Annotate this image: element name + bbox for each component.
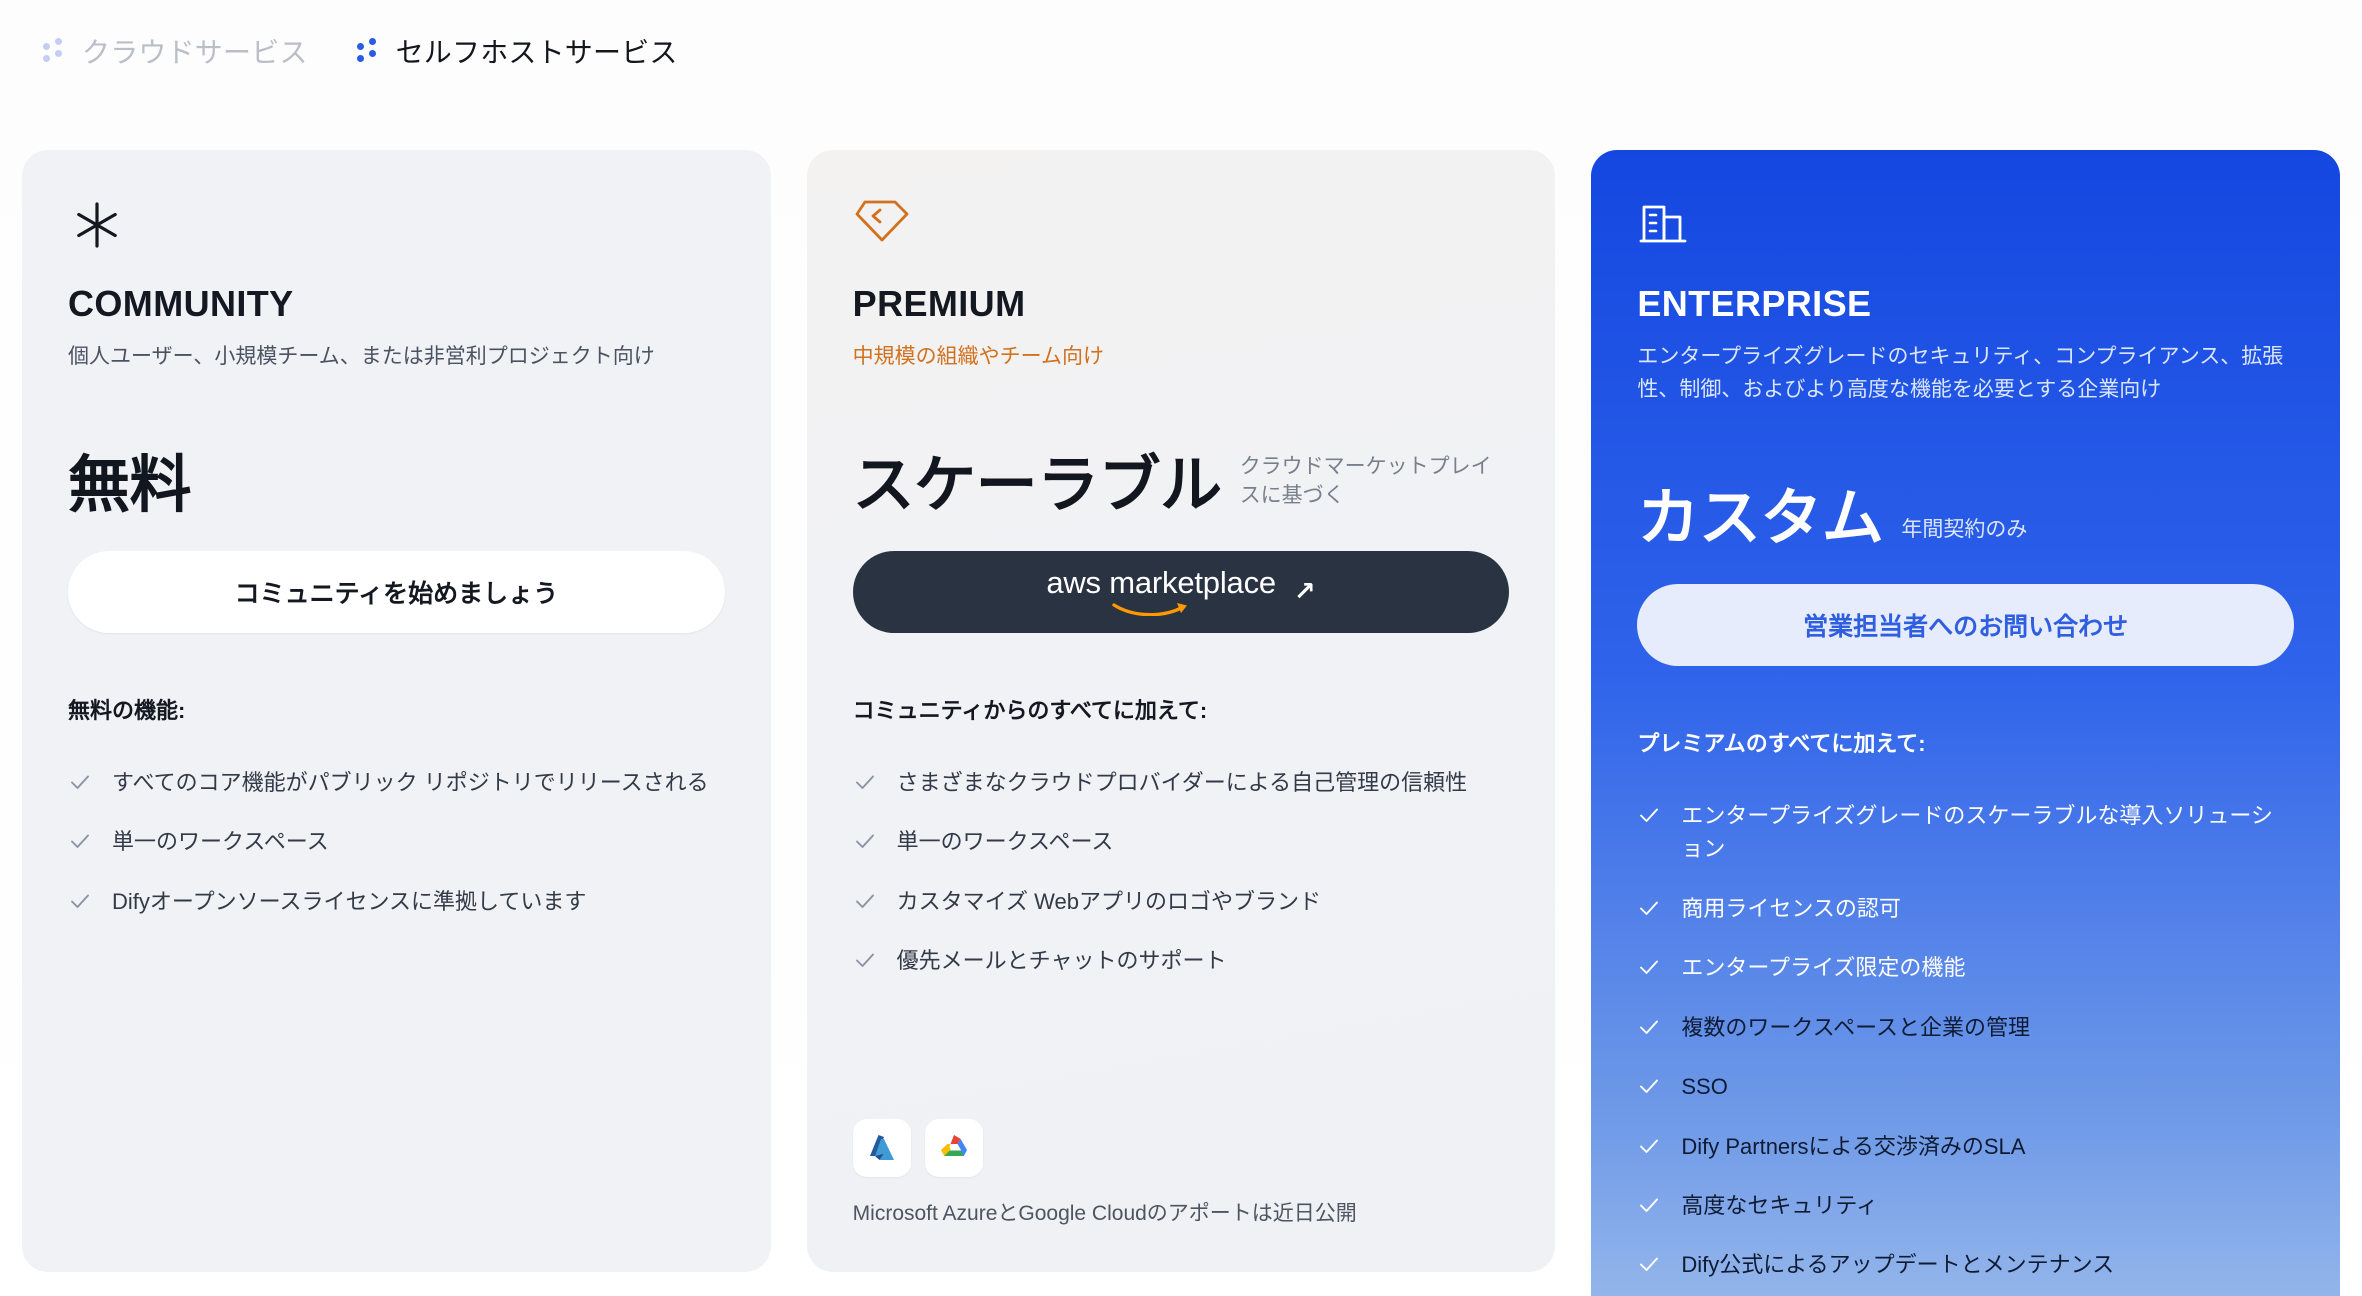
plan-description-premium: 中規模の組織やチーム向け [853, 340, 1510, 373]
price-row-premium: スケーラブル クラウドマーケットプレイスに基づく [853, 439, 1510, 517]
check-icon [1637, 896, 1661, 920]
plan-name-premium: PREMIUM [853, 284, 1510, 324]
community-cta-button[interactable]: コミュニティを始めましょう [68, 551, 725, 633]
feature-label: カスタマイズ Webアプリのロゴやブランド [897, 885, 1321, 918]
tab-self-host-service-label: セルフホストサービス [396, 31, 678, 71]
feature-list-community: すべてのコア機能がパブリック リポジトリでリリースされる 単一のワークスペース … [68, 753, 725, 931]
tab-cloud-service[interactable]: クラウドサービス [40, 27, 310, 75]
check-icon [1637, 803, 1661, 827]
check-icon [68, 889, 92, 913]
price-row-community: 無料 [68, 439, 725, 517]
plan-price-premium: スケーラブル [853, 455, 1222, 517]
feature-item: 単一のワークスペース [68, 812, 725, 871]
plan-name-community: COMMUNITY [68, 284, 725, 324]
feature-item: Dify公式によるアップデートとメンテナンス [1637, 1235, 2294, 1294]
feature-label: 商用ライセンスの認可 [1681, 892, 1901, 925]
feature-item: 商用ライセンスの認可 [1637, 879, 2294, 938]
features-title-enterprise: プレミアムのすべてに加えて: [1637, 726, 2294, 758]
aws-marketplace-label: aws marketplace [1046, 567, 1276, 598]
check-icon [853, 948, 877, 972]
feature-item: カスタマイズ Webアプリのロゴやブランド [853, 872, 1510, 931]
tab-cloud-service-label: クラウドサービス [82, 31, 308, 71]
dots-icon [42, 38, 68, 64]
asterisk-icon [68, 196, 725, 254]
contact-sales-button[interactable]: 営業担当者へのお問い合わせ [1637, 584, 2294, 666]
pricing-page: クラウドサービス セルフホストサービス COMMUNITY [0, 0, 2362, 1296]
feature-item: Dify Partnersによる交渉済みのSLA [1637, 1117, 2294, 1176]
feature-label: 単一のワークスペース [112, 825, 329, 858]
features-title-community: 無料の機能: [68, 693, 725, 725]
feature-label: エンタープライズグレードのスケーラブルな導入ソリューション [1681, 799, 2294, 866]
feature-list-enterprise: エンタープライズグレードのスケーラブルな導入ソリューション 商用ライセンスの認可… [1637, 786, 2294, 1296]
features-title-premium: コミュニティからのすべてに加えて: [853, 693, 1510, 725]
external-link-icon: ↗ [1294, 576, 1316, 607]
plan-price-enterprise: カスタム [1637, 488, 1883, 550]
feature-item: 複数のワークスペースと企業の管理 [1637, 998, 2294, 1057]
check-icon [68, 829, 92, 853]
feature-label: Difyオープンソースライセンスに準拠しています [112, 885, 586, 918]
feature-list-premium: さまざまなクラウドプロバイダーによる自己管理の信頼性 単一のワークスペース カス… [853, 753, 1510, 991]
feature-item: 高度なセキュリティ [1637, 1176, 2294, 1235]
check-icon [853, 770, 877, 794]
check-icon [68, 770, 92, 794]
check-icon [1637, 1015, 1661, 1039]
feature-label: エンタープライズ限定の機能 [1681, 951, 1965, 984]
check-icon [853, 829, 877, 853]
feature-label: 単一のワークスペース [897, 825, 1114, 858]
feature-item: 優先メールとチャットのサポート [853, 931, 1510, 990]
feature-item: すべてのコア機能がパブリック リポジトリでリリースされる [68, 753, 725, 812]
plan-card-premium: PREMIUM 中規模の組織やチーム向け スケーラブル クラウドマーケットプレイ… [807, 150, 1556, 1272]
feature-label: さまざまなクラウドプロバイダーによる自己管理の信頼性 [897, 766, 1467, 799]
google-cloud-logo [925, 1119, 983, 1177]
plan-price-note-premium: クラウドマーケットプレイスに基づく [1240, 452, 1510, 517]
feature-label: 複数のワークスペースと企業の管理 [1681, 1011, 2030, 1044]
check-icon [1637, 955, 1661, 979]
feature-label: 高度なセキュリティ [1681, 1189, 1878, 1222]
price-row-enterprise: カスタム 年間契約のみ [1637, 472, 2294, 550]
plan-price-community: 無料 [68, 455, 191, 517]
feature-item: Difyオープンソースライセンスに準拠しています [68, 872, 725, 931]
building-icon [1637, 196, 2294, 254]
feature-label: 優先メールとチャットのサポート [897, 944, 1227, 977]
feature-item: SSO [1637, 1057, 2294, 1116]
feature-item: 単一のワークスペース [853, 812, 1510, 871]
feature-item: エンタープライズグレードのスケーラブルな導入ソリューション [1637, 786, 2294, 879]
feature-item: エンタープライズ限定の機能 [1637, 938, 2294, 997]
plan-name-enterprise: ENTERPRISE [1637, 284, 2294, 324]
plan-description-community: 個人ユーザー、小規模チーム、または非営利プロジェクト向け [68, 340, 725, 373]
check-icon [853, 889, 877, 913]
azure-logo [853, 1119, 911, 1177]
cloud-provider-logos [853, 1119, 1510, 1177]
aws-logo: aws marketplace [1046, 567, 1276, 616]
check-icon [1637, 1134, 1661, 1158]
feature-label: SSO [1681, 1070, 1727, 1103]
check-icon [1637, 1074, 1661, 1098]
dots-icon [356, 38, 382, 64]
feature-label: Dify Partnersによる交渉済みのSLA [1681, 1130, 2025, 1163]
feature-label: すべてのコア機能がパブリック リポジトリでリリースされる [112, 766, 709, 799]
feature-label: Dify公式によるアップデートとメンテナンス [1681, 1248, 2114, 1281]
feature-item: さまざまなクラウドプロバイダーによる自己管理の信頼性 [853, 753, 1510, 812]
aws-marketplace-button[interactable]: aws marketplace ↗ [853, 551, 1510, 633]
plan-description-enterprise: エンタープライズグレードのセキュリティ、コンプライアンス、拡張性、制御、およびよ… [1637, 340, 2294, 406]
pricing-cards: COMMUNITY 個人ユーザー、小規模チーム、または非営利プロジェクト向け 無… [22, 150, 2340, 1296]
premium-footer: Microsoft AzureとGoogle Cloudのアポートは近日公開 [853, 1119, 1510, 1228]
check-icon [1637, 1193, 1661, 1217]
tab-self-host-service[interactable]: セルフホストサービス [354, 27, 680, 75]
service-type-tabs: クラウドサービス セルフホストサービス [40, 24, 680, 78]
premium-footer-note: Microsoft AzureとGoogle Cloudのアポートは近日公開 [853, 1199, 1510, 1228]
check-icon [1637, 1252, 1661, 1276]
amazon-smile-icon [1111, 600, 1211, 616]
gem-icon [853, 196, 1510, 254]
plan-card-community: COMMUNITY 個人ユーザー、小規模チーム、または非営利プロジェクト向け 無… [22, 150, 771, 1272]
plan-price-note-enterprise: 年間契約のみ [1901, 515, 2027, 550]
plan-card-enterprise: ENTERPRISE エンタープライズグレードのセキュリティ、コンプライアンス、… [1591, 150, 2340, 1296]
